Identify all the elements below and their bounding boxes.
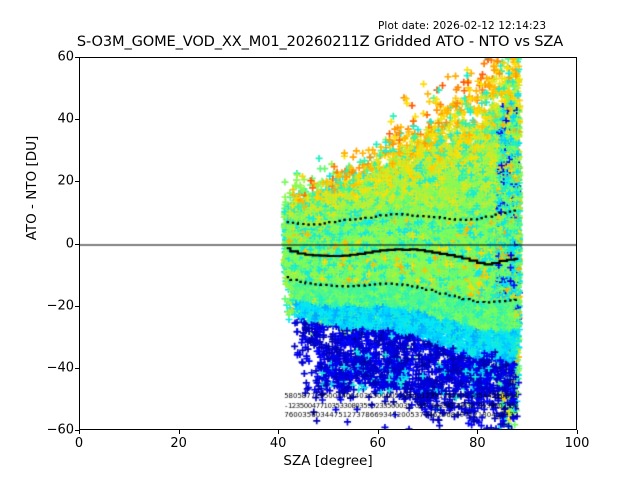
y-tick-label: 20 (57, 174, 74, 189)
x-tick-mark (477, 430, 478, 434)
x-tick-label: 20 (170, 436, 187, 451)
x-tick-label: 60 (370, 436, 387, 451)
y-tick-label: −20 (47, 298, 74, 313)
y-tick-label: 60 (57, 50, 74, 65)
y-tick-mark (75, 119, 79, 120)
y-tick-mark (75, 306, 79, 307)
y-tick-mark (75, 181, 79, 182)
y-tick-mark (75, 57, 79, 58)
x-tick-mark (179, 430, 180, 434)
y-tick-label: 40 (57, 112, 74, 127)
plot-axes (79, 57, 577, 430)
y-axis-label: ATO - NTO [DU] (24, 88, 40, 288)
y-tick-label: −40 (47, 360, 74, 375)
x-tick-mark (79, 430, 80, 434)
scatter-plot-area (80, 58, 577, 430)
x-tick-mark (577, 430, 578, 434)
figure-canvas: Plot date: 2026-02-12 12:14:23 S-O3M_GOM… (0, 0, 640, 480)
x-axis-label: SZA [degree] (79, 453, 577, 469)
x-tick-label: 80 (469, 436, 486, 451)
y-tick-mark (75, 368, 79, 369)
y-tick-mark (75, 244, 79, 245)
plot-date-label: Plot date: 2026-02-12 12:14:23 (378, 20, 546, 32)
page-title: S-O3M_GOME_VOD_XX_M01_20260211Z Gridded … (0, 33, 640, 50)
x-tick-mark (378, 430, 379, 434)
x-tick-mark (278, 430, 279, 434)
y-tick-label: 0 (66, 236, 74, 251)
x-tick-label: 40 (270, 436, 287, 451)
x-tick-label: 100 (565, 436, 590, 451)
y-tick-label: −60 (47, 423, 74, 438)
x-tick-label: 0 (75, 436, 83, 451)
